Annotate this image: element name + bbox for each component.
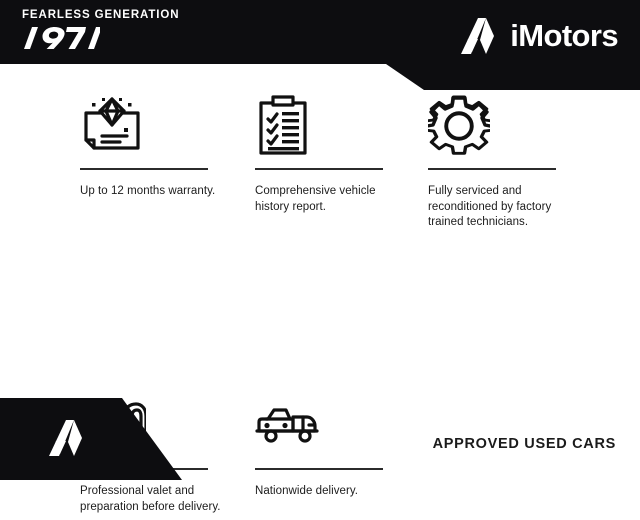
footer-approved-used-cars-label: APPROVED USED CARS xyxy=(433,436,616,452)
feature-divider xyxy=(428,168,556,170)
header-bar: FEARLESS GENERATION xyxy=(0,0,640,90)
fearless-generation-lockup: FEARLESS GENERATION xyxy=(22,8,242,57)
warranty-certificate-diamond-icon xyxy=(80,90,230,162)
feature-caption: Professional valet and preparation befor… xyxy=(80,484,230,515)
footer-imotors-logo-icon xyxy=(44,416,88,460)
feature-caption: Nationwide delivery. xyxy=(255,484,405,500)
1971-logotype-icon xyxy=(22,23,100,57)
imotors-brand-lockup: iMotors xyxy=(456,14,618,58)
header-tagline: FEARLESS GENERATION xyxy=(22,8,242,22)
clipboard-checklist-icon xyxy=(255,90,405,162)
features-grid: Up to 12 months warranty. xyxy=(0,90,640,370)
imotors-wordmark: iMotors xyxy=(510,19,618,53)
features-row-1: Up to 12 months warranty. xyxy=(0,90,640,240)
imotors-a-chevron-logo-icon xyxy=(456,14,500,58)
feature-delivery: Nationwide delivery. xyxy=(255,390,405,500)
feature-warranty: Up to 12 months warranty. xyxy=(80,90,230,200)
feature-caption: Fully serviced and reconditioned by fact… xyxy=(428,184,578,231)
car-transporter-truck-icon xyxy=(255,390,405,462)
feature-serviced: Fully serviced and reconditioned by fact… xyxy=(428,90,578,231)
feature-history-report: Comprehensive vehicle history report. xyxy=(255,90,405,215)
promo-banner: FEARLESS GENERATION xyxy=(0,0,640,480)
gear-cog-icon xyxy=(428,90,578,162)
feature-divider xyxy=(255,168,383,170)
feature-divider xyxy=(255,468,383,470)
feature-divider xyxy=(80,168,208,170)
feature-caption: Comprehensive vehicle history report. xyxy=(255,184,405,215)
feature-caption: Up to 12 months warranty. xyxy=(80,184,230,200)
